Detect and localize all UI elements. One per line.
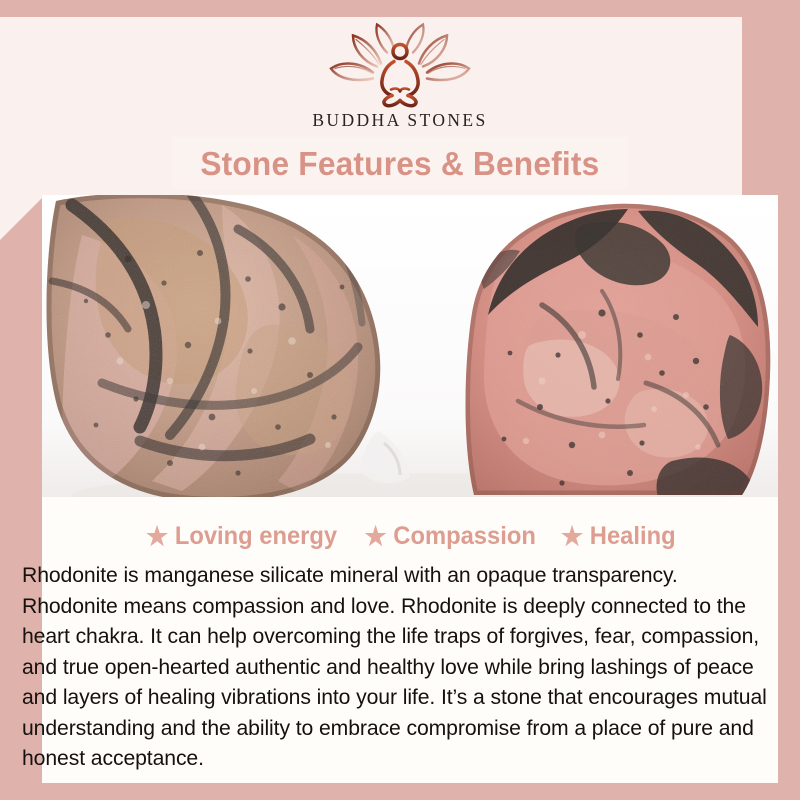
- keyword-item-compassion: ★ Compassion: [359, 522, 542, 551]
- brand-logo: BUDDHA STONES: [0, 22, 800, 142]
- star-icon: ★: [365, 523, 387, 549]
- keyword-label: Loving energy: [175, 522, 337, 551]
- brand-name: BUDDHA STONES: [312, 110, 487, 131]
- page-title: Stone Features & Benefits: [200, 145, 599, 183]
- title-banner: Stone Features & Benefits: [172, 137, 628, 190]
- star-icon: ★: [561, 523, 583, 549]
- infographic-page: BUDDHA STONES Stone Features & Benefits: [0, 0, 800, 800]
- keyword-label: Healing: [590, 522, 676, 551]
- keyword-label: Compassion: [393, 522, 536, 551]
- keyword-list: ★ Loving energy ★ Compassion ★ Healing: [42, 518, 778, 554]
- keyword-item-loving-energy: ★ Loving energy: [140, 522, 343, 551]
- star-icon: ★: [146, 523, 168, 549]
- stone-photo-panel: Rhodonite: [42, 195, 778, 505]
- description-text: Rhodonite is manganese silicate mineral …: [22, 560, 773, 774]
- stone-photo: [42, 195, 778, 505]
- lotus-meditation-icon: [325, 22, 475, 108]
- keyword-item-healing: ★ Healing: [556, 522, 682, 551]
